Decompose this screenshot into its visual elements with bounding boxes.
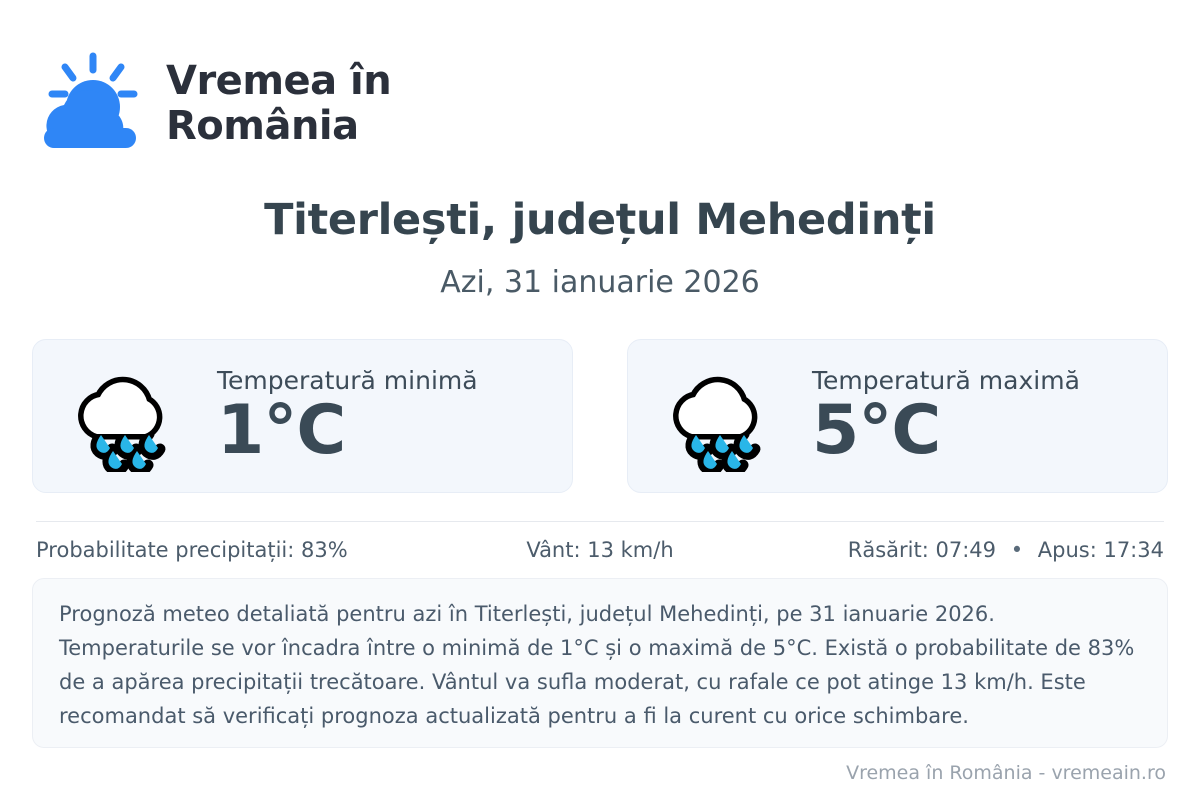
sun-times-stat: Răsărit: 07:49 • Apus: 17:34 [792, 538, 1164, 562]
wind-stat: Vânt: 13 km/h [408, 538, 792, 562]
sunrise-value: Răsărit: 07:49 [848, 538, 996, 562]
footer-attribution: Vremea în România - vremeain.ro [846, 762, 1166, 784]
min-temperature-value: 1°C [217, 397, 478, 465]
section-divider [36, 521, 1164, 522]
rain-cloud-icon [662, 360, 786, 472]
forecast-description: Prognoză meteo detaliată pentru azi în T… [32, 578, 1168, 748]
max-temperature-card: Temperatură maximă 5°C [627, 339, 1168, 493]
sun-behind-cloud-icon [36, 52, 146, 156]
min-temperature-body: Temperatură minimă 1°C [217, 367, 478, 465]
stat-separator: • [1003, 538, 1031, 562]
brand-logo[interactable]: Vremea în România [36, 52, 391, 156]
weather-page: Vremea în România Titerlești, județul Me… [0, 0, 1200, 800]
page-title: Titerlești, județul Mehedinți [0, 195, 1200, 245]
temperature-cards: Temperatură minimă 1°C [32, 339, 1168, 493]
precipitation-stat: Probabilitate precipitații: 83% [36, 538, 408, 562]
date-subtitle: Azi, 31 ianuarie 2026 [0, 265, 1200, 300]
weather-stats-row: Probabilitate precipitații: 83% Vânt: 13… [36, 538, 1164, 562]
min-temperature-card: Temperatură minimă 1°C [32, 339, 573, 493]
max-temperature-body: Temperatură maximă 5°C [812, 367, 1080, 465]
brand-name: Vremea în România [166, 59, 391, 149]
max-temperature-value: 5°C [812, 397, 1080, 465]
rain-cloud-icon [67, 360, 191, 472]
sunset-value: Apus: 17:34 [1038, 538, 1164, 562]
